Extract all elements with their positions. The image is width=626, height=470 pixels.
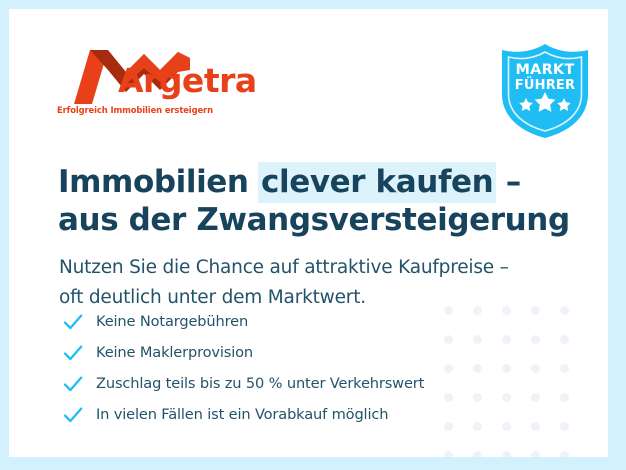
argetra-logo[interactable]: Argetra Erfolgreich Immobilien ersteiger… <box>56 50 256 122</box>
subtitle-line-1: Nutzen Sie die Chance auf attraktive Kau… <box>59 257 509 278</box>
benefits-list: Keine NotargebührenKeine Maklerprovision… <box>62 306 492 430</box>
benefit-label: Zuschlag teils bis zu 50 % unter Verkehr… <box>96 375 424 392</box>
decorative-dot <box>560 451 569 457</box>
market-leader-badge: MARKT FÜHRER <box>498 42 592 140</box>
decorative-dot <box>473 451 482 457</box>
decorative-dot <box>560 364 569 373</box>
benefit-item: Zuschlag teils bis zu 50 % unter Verkehr… <box>62 368 492 399</box>
decorative-dot <box>502 393 511 402</box>
decorative-dot <box>560 306 569 315</box>
decorative-dot <box>502 451 511 457</box>
benefit-item: Keine Notargebühren <box>62 306 492 337</box>
logo-wordmark: Argetra <box>118 64 257 97</box>
benefit-item: Keine Maklerprovision <box>62 337 492 368</box>
decorative-dot <box>531 335 540 344</box>
benefit-label: In vielen Fällen ist ein Vorabkauf mögli… <box>96 406 388 423</box>
decorative-dot <box>531 393 540 402</box>
headline-line-2: aus der Zwangsversteigerung <box>58 202 570 238</box>
benefit-label: Keine Notargebühren <box>96 313 248 330</box>
decorative-dot <box>560 393 569 402</box>
headline-line-1: Immobilien clever kaufen – <box>58 164 521 200</box>
check-icon <box>62 404 84 426</box>
page-title: Immobilien clever kaufen – aus der Zwang… <box>58 163 570 239</box>
benefit-label: Keine Maklerprovision <box>96 344 253 361</box>
decorative-dot <box>531 306 540 315</box>
decorative-dot <box>560 422 569 431</box>
decorative-dot <box>560 335 569 344</box>
promo-banner-card: Argetra Erfolgreich Immobilien ersteiger… <box>9 9 608 457</box>
subtitle-line-2: oft deutlich unter dem Marktwert. <box>59 287 366 308</box>
headline-text-before: Immobilien <box>58 164 259 200</box>
check-icon <box>62 373 84 395</box>
decorative-dot <box>531 422 540 431</box>
decorative-dot <box>444 451 453 457</box>
headline-highlight: clever kaufen <box>258 162 496 203</box>
decorative-dot <box>531 364 540 373</box>
page-subtitle: Nutzen Sie die Chance auf attraktive Kau… <box>59 253 509 313</box>
shield-icon <box>498 42 592 140</box>
decorative-dot <box>531 451 540 457</box>
decorative-dot <box>502 335 511 344</box>
headline-text-after: – <box>495 164 521 200</box>
benefit-item: In vielen Fällen ist ein Vorabkauf mögli… <box>62 399 492 430</box>
decorative-dot <box>502 364 511 373</box>
logo-tagline: Erfolgreich Immobilien ersteigern <box>57 105 213 115</box>
check-icon <box>62 342 84 364</box>
check-icon <box>62 311 84 333</box>
decorative-dot <box>502 422 511 431</box>
